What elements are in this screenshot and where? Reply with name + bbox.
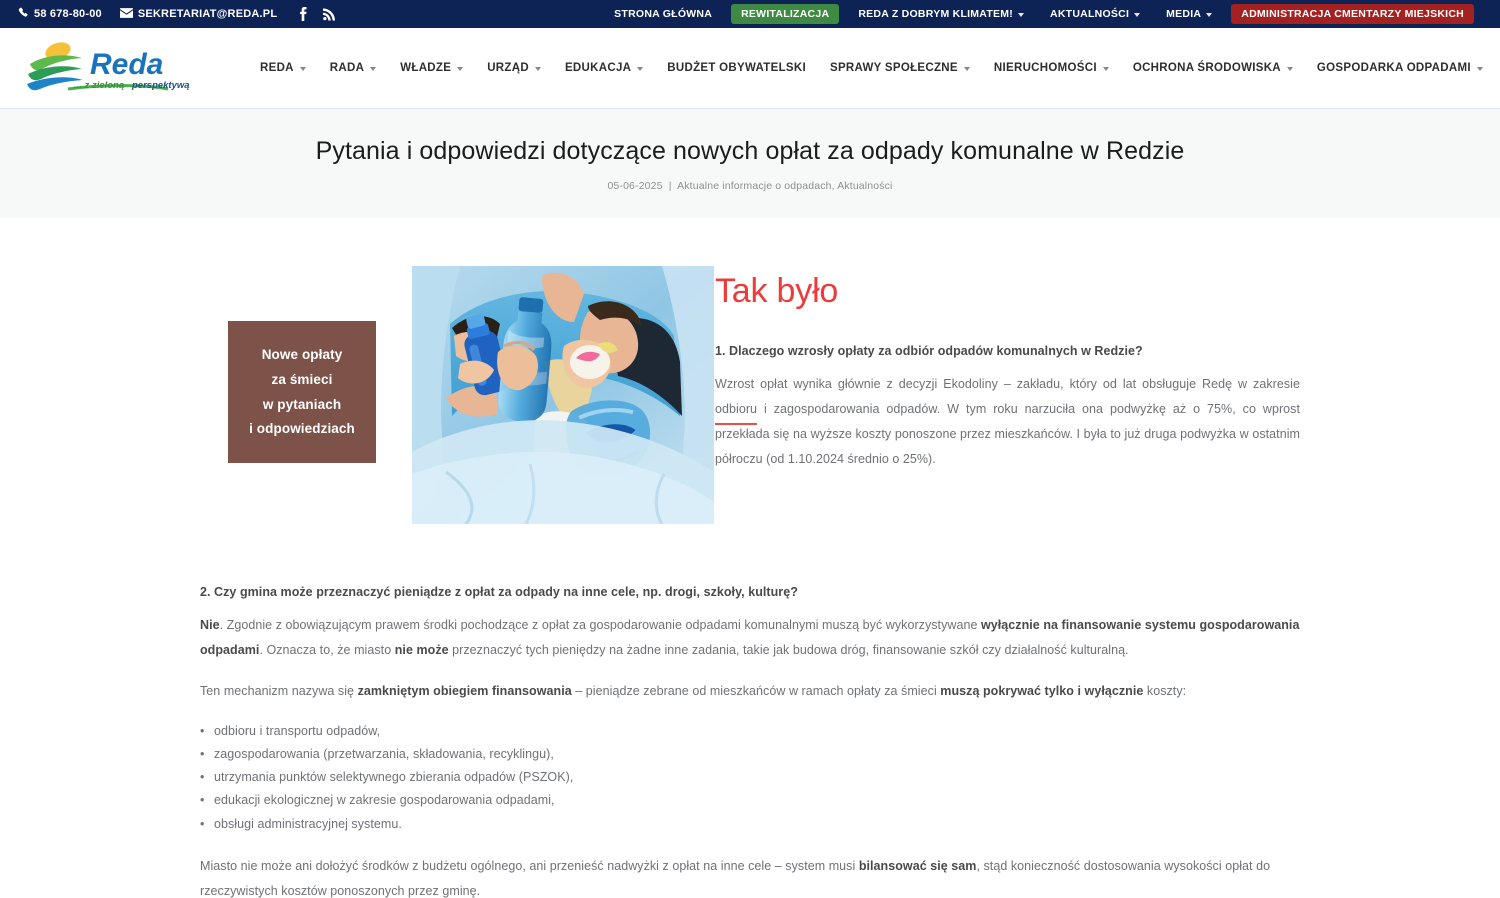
recycling-bottles-photo: [412, 266, 714, 524]
p1-text-b: . Zgodnie z obowiązującym prawem środki …: [220, 618, 981, 632]
nav-item-label: OCHRONA ŚRODOWISKA: [1133, 62, 1281, 74]
top-utility-bar: 58 678-80-00 SEKRETARIAT@REDA.PL STRONA …: [0, 0, 1500, 28]
topbar-item-strona-glowna[interactable]: STRONA GŁÓWNA: [601, 0, 725, 28]
section-heading-tak-bylo: Tak było: [715, 274, 1300, 308]
nav-item-ochrona-srodowiska[interactable]: OCHRONA ŚRODOWISKA: [1121, 48, 1305, 88]
chevron-down-icon: [1287, 67, 1293, 71]
question-2-paragraph-3: Miasto nie może ani dołożyć środków z bu…: [200, 854, 1300, 898]
chevron-down-icon: [1206, 13, 1212, 17]
rewitalizacja-button[interactable]: REWITALIZACJA: [731, 4, 839, 24]
chevron-down-icon: [300, 67, 306, 71]
nav-item-rada[interactable]: RADA: [318, 48, 388, 88]
p2-bold-musza-pokrywac: muszą pokrywać tylko i wyłącznie: [940, 684, 1143, 698]
email-address: SEKRETARIAT@REDA.PL: [138, 8, 277, 20]
nav-item-label: GOSPODARKA ODPADAMI: [1317, 62, 1471, 74]
nav-item-gospodarka-odpadami[interactable]: GOSPODARKA ODPADAMI: [1305, 48, 1495, 88]
nav-item-label: REDA: [260, 62, 294, 74]
nav-item-edukacja[interactable]: EDUKACJA: [553, 48, 655, 88]
p2-text-e: koszty:: [1143, 684, 1186, 698]
article-meta: 05-06-2025 | Aktualne informacje o odpad…: [607, 180, 892, 192]
facebook-icon[interactable]: [299, 7, 307, 21]
question-1-answer: Wzrost opłat wynika głównie z decyzji Ek…: [715, 372, 1300, 472]
p2-text-a: Ten mechanizm nazywa się: [200, 684, 358, 698]
page-hero: Pytania i odpowiedzi dotyczące nowych op…: [0, 109, 1500, 218]
article-media-column: Nowe opłaty za śmieci w pytaniach i odpo…: [200, 266, 715, 541]
topbar-item-aktualnosci[interactable]: AKTUALNOŚCI: [1037, 0, 1153, 28]
list-item: edukacji ekologicznej w zakresie gospoda…: [200, 789, 1300, 812]
nav-item-nieruchomosci[interactable]: NIERUCHOMOŚCI: [982, 48, 1121, 88]
article-lower-block: 2. Czy gmina może przeznaczyć pieniądze …: [200, 541, 1300, 898]
nav-item-label: SPRAWY SPOŁECZNE: [830, 62, 958, 74]
cost-list: odbioru i transportu odpadów, zagospodar…: [200, 720, 1300, 836]
administracja-button-label: ADMINISTRACJA CMENTARZY MIEJSKICH: [1241, 8, 1464, 20]
envelope-icon: [120, 8, 133, 21]
article-date: 05-06-2025: [607, 180, 662, 192]
site-header: Reda ... z zieloną perspektywą REDA RADA…: [0, 28, 1500, 109]
chevron-down-icon: [1477, 67, 1483, 71]
answer-text-part-2: i zagospodarowania odpadów. W tym roku n…: [715, 402, 1300, 466]
promo-line-4: i odpowiedziach: [249, 419, 355, 439]
nav-item-label: NIERUCHOMOŚCI: [994, 62, 1097, 74]
nav-item-label: RADA: [330, 62, 364, 74]
chevron-down-icon: [964, 67, 970, 71]
answer-text-part-1: Wzrost opłat wynika głównie z decyzji Ek…: [715, 377, 1300, 391]
promo-line-1: Nowe opłaty: [262, 345, 343, 365]
topbar-item-label: MEDIA: [1166, 8, 1201, 20]
nav-item-reda[interactable]: REDA: [248, 48, 318, 88]
promo-line-3: w pytaniach: [263, 395, 341, 415]
nav-item-label: BUDŻET OBYWATELSKI: [667, 62, 806, 74]
nav-item-label: WŁADZE: [400, 62, 451, 74]
topbar-contact-group: 58 678-80-00 SEKRETARIAT@REDA.PL: [18, 7, 335, 21]
phone-icon: [18, 7, 29, 21]
question-2-paragraph-1: Nie. Zgodnie z obowiązującym prawem środ…: [200, 613, 1300, 663]
chevron-down-icon: [535, 67, 541, 71]
nav-item-label: URZĄD: [487, 62, 529, 74]
nav-item-urzad[interactable]: URZĄD: [475, 48, 553, 88]
article-top-block: Nowe opłaty za śmieci w pytaniach i odpo…: [200, 266, 1300, 541]
nav-item-wladze[interactable]: WŁADZE: [388, 48, 475, 88]
main-navigation: REDA RADA WŁADZE URZĄD EDUKACJA BUDŻET O…: [248, 48, 1500, 88]
topbar-item-reda-z-dobrym-klimatem[interactable]: REDA Z DOBRYM KLIMATEM!: [845, 0, 1037, 28]
svg-text:perspektywą: perspektywą: [131, 80, 190, 91]
page-title: Pytania i odpowiedzi dotyczące nowych op…: [316, 136, 1185, 166]
p2-text-c: – pieniądze zebrane od mieszkańców w ram…: [572, 684, 941, 698]
reda-logo[interactable]: Reda ... z zieloną perspektywą: [18, 40, 248, 96]
promo-line-2: za śmieci: [272, 370, 333, 390]
svg-text:Reda: Reda: [90, 48, 163, 81]
nav-item-sprawy-spoleczne[interactable]: SPRAWY SPOŁECZNE: [818, 48, 982, 88]
topbar-item-label: AKTUALNOŚCI: [1050, 8, 1129, 20]
misspelled-word: odbioru: [715, 397, 757, 422]
phone-number: 58 678-80-00: [34, 8, 102, 20]
chevron-down-icon: [637, 67, 643, 71]
rss-icon[interactable]: [323, 8, 335, 21]
article-text-column: Tak było 1. Dlaczego wzrosły opłaty za o…: [715, 266, 1300, 472]
chevron-down-icon: [457, 67, 463, 71]
phone-link[interactable]: 58 678-80-00: [18, 7, 102, 21]
p1-text-d: . Oznacza to, że miasto: [259, 643, 394, 657]
p3-text-a: Miasto nie może ani dołożyć środków z bu…: [200, 859, 859, 873]
question-1-heading: 1. Dlaczego wzrosły opłaty za odbiór odp…: [715, 344, 1300, 358]
p1-bold-nie-moze: nie może: [395, 643, 449, 657]
nav-item-budzet-obywatelski[interactable]: BUDŻET OBYWATELSKI: [655, 48, 818, 88]
promo-box: Nowe opłaty za śmieci w pytaniach i odpo…: [228, 321, 376, 463]
p1-text-f: przeznaczyć tych pieniędzy na żadne inne…: [449, 643, 1129, 657]
chevron-down-icon: [1134, 13, 1140, 17]
topbar-item-label: STRONA GŁÓWNA: [614, 8, 712, 20]
nav-item-kontakt[interactable]: KONTAKT: [1495, 48, 1500, 88]
list-item: odbioru i transportu odpadów,: [200, 720, 1300, 743]
meta-separator: |: [669, 180, 672, 192]
p2-bold-zamknietym: zamkniętym obiegiem finansowania: [358, 684, 572, 698]
article-categories[interactable]: Aktualne informacje o odpadach, Aktualno…: [677, 180, 892, 192]
topbar-item-label: REDA Z DOBRYM KLIMATEM!: [858, 8, 1013, 20]
list-item: obsługi administracyjnej systemu.: [200, 813, 1300, 836]
chevron-down-icon: [1103, 67, 1109, 71]
topbar-item-media[interactable]: MEDIA: [1153, 0, 1225, 28]
social-links: [299, 7, 335, 21]
question-2-heading: 2. Czy gmina może przeznaczyć pieniądze …: [200, 585, 1300, 599]
article-content: Nowe opłaty za śmieci w pytaniach i odpo…: [200, 218, 1300, 898]
chevron-down-icon: [1018, 13, 1024, 17]
nav-item-label: EDUKACJA: [565, 62, 631, 74]
chevron-down-icon: [370, 67, 376, 71]
administracja-cmentarzy-button[interactable]: ADMINISTRACJA CMENTARZY MIEJSKICH: [1231, 4, 1474, 24]
svg-text:... z zieloną: ... z zieloną: [74, 80, 124, 91]
list-item: utrzymania punktów selektywnego zbierani…: [200, 766, 1300, 789]
p3-bold-bilansowac: bilansować się sam: [859, 859, 977, 873]
topbar-nav: STRONA GŁÓWNA REWITALIZACJA REDA Z DOBRY…: [601, 0, 1492, 28]
question-2-paragraph-2: Ten mechanizm nazywa się zamkniętym obie…: [200, 679, 1300, 704]
email-link[interactable]: SEKRETARIAT@REDA.PL: [120, 8, 277, 21]
list-item: zagospodarowania (przetwarzania, składow…: [200, 743, 1300, 766]
rewitalizacja-button-label: REWITALIZACJA: [741, 8, 829, 20]
p1-bold-nie: Nie: [200, 618, 220, 632]
